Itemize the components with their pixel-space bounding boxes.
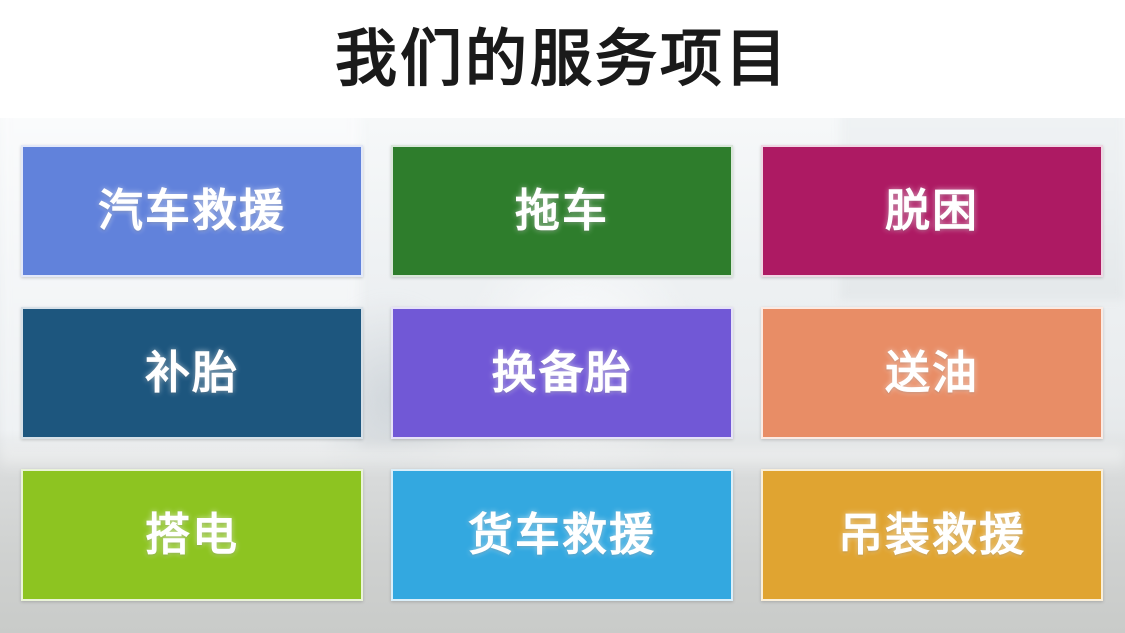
service-tile-label: 补胎 xyxy=(145,347,239,399)
service-tile-jump-start[interactable]: 搭电 xyxy=(21,469,363,601)
service-poster: 我们的服务项目 汽车救援 拖车 脱困 补胎 换备胎 送油 搭电 货车救援 吊装救… xyxy=(0,0,1125,633)
page-title: 我们的服务项目 xyxy=(0,20,1125,98)
service-tile-grid: 汽车救援 拖车 脱困 补胎 换备胎 送油 搭电 货车救援 吊装救援 xyxy=(21,145,1104,601)
service-tile-spare-tire-change[interactable]: 换备胎 xyxy=(391,307,733,439)
service-tile-label: 汽车救援 xyxy=(98,185,286,237)
service-tile-truck-rescue[interactable]: 货车救援 xyxy=(391,469,733,601)
service-tile-tire-repair[interactable]: 补胎 xyxy=(21,307,363,439)
service-tile-hoisting-rescue[interactable]: 吊装救援 xyxy=(761,469,1103,601)
service-tile-label: 送油 xyxy=(885,347,979,399)
service-tile-label: 吊装救援 xyxy=(838,509,1026,561)
service-tile-label: 拖车 xyxy=(515,185,609,237)
service-tile-label: 搭电 xyxy=(145,509,239,561)
service-tile-tow-truck[interactable]: 拖车 xyxy=(391,145,733,277)
service-tile-label: 脱困 xyxy=(885,185,979,237)
service-tile-label: 换备胎 xyxy=(491,347,632,399)
service-tile-car-rescue[interactable]: 汽车救援 xyxy=(21,145,363,277)
service-tile-fuel-delivery[interactable]: 送油 xyxy=(761,307,1103,439)
service-tile-extrication[interactable]: 脱困 xyxy=(761,145,1103,277)
service-tile-label: 货车救援 xyxy=(468,509,656,561)
